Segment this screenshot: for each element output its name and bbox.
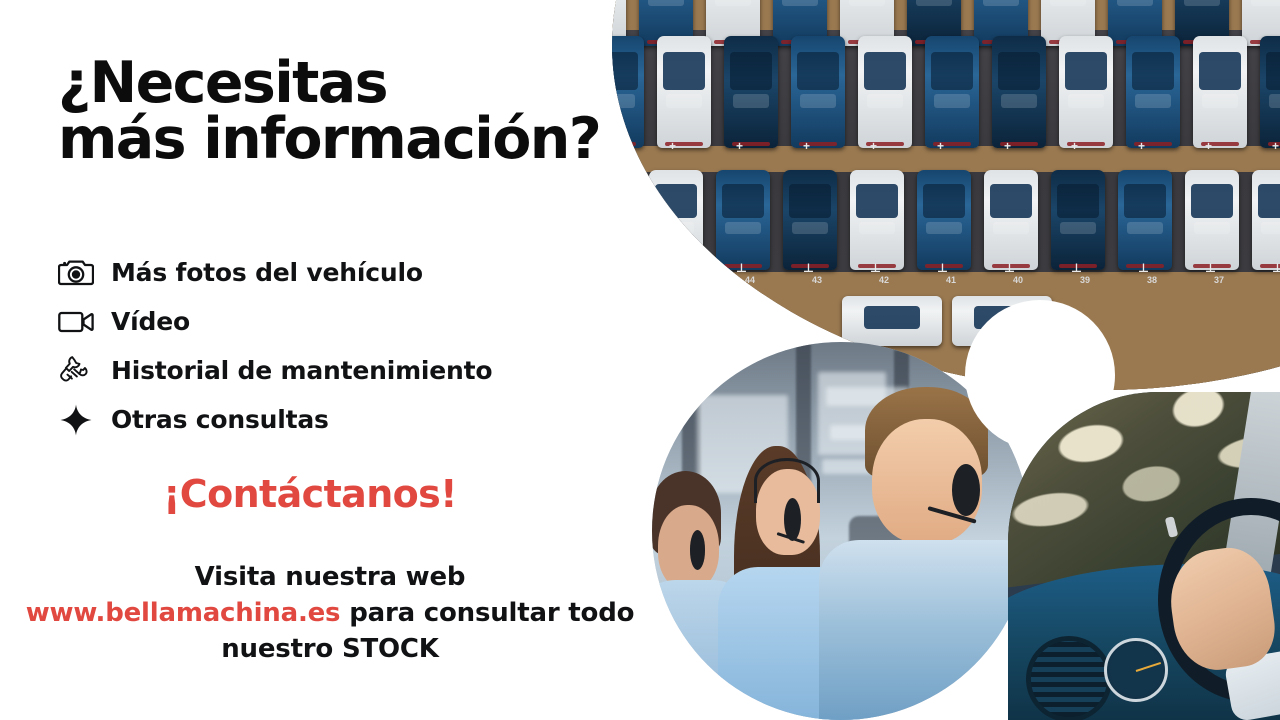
parked-car (984, 170, 1038, 270)
parked-car (1041, 0, 1095, 46)
parked-car (783, 170, 837, 270)
parked-car (842, 296, 942, 346)
video-camera-icon (55, 303, 97, 341)
parking-bay-number: 42 (879, 276, 889, 285)
parking-bay-number: 43 (812, 276, 822, 285)
parking-bay-marker: + (736, 140, 743, 152)
parked-car (917, 170, 971, 270)
list-item: Más fotos del vehículo (55, 248, 655, 297)
aerial-parking-lot-photo: +⊥46+⊥45+⊥44+⊥43+⊥42+⊥41+⊥40+⊥39+⊥38+⊥37… (612, 0, 1280, 390)
parked-car (716, 170, 770, 270)
parking-bay-number: 44 (745, 276, 755, 285)
parking-bay-marker: + (870, 140, 877, 152)
parking-bay-marker: ⊥ (1205, 262, 1216, 274)
parked-car (706, 0, 760, 46)
page-title: ¿Necesitas más información? (58, 55, 678, 168)
parked-car (1185, 170, 1239, 270)
list-item-label: Más fotos del vehículo (111, 258, 423, 287)
benefits-list: Más fotos del vehículo Vídeo (55, 248, 655, 444)
parked-car (1242, 0, 1280, 46)
list-item: Otras consultas (55, 395, 655, 444)
headline-line-2: más información? (58, 111, 678, 167)
parked-car (858, 36, 912, 148)
parking-bay-number: 37 (1214, 276, 1224, 285)
parked-car (952, 296, 1052, 346)
website-callout: Visita nuestra web www.bellamachina.es p… (0, 560, 660, 668)
parked-car (840, 0, 894, 46)
url-line-rest: para consultar todo (340, 598, 634, 628)
sparkle-star-icon (55, 401, 97, 439)
parked-car (992, 36, 1046, 148)
list-item-label: Vídeo (111, 307, 190, 336)
parking-bay-marker: ⊥ (1272, 262, 1280, 274)
parked-car (791, 36, 845, 148)
parking-bay-number: 41 (946, 276, 956, 285)
parked-car (1260, 36, 1280, 148)
parking-bay-number: 40 (1013, 276, 1023, 285)
parking-bay-number: 39 (1080, 276, 1090, 285)
parked-car (925, 36, 979, 148)
parking-bay-marker: + (1272, 140, 1279, 152)
advertisement-canvas: +⊥46+⊥45+⊥44+⊥43+⊥42+⊥41+⊥40+⊥39+⊥38+⊥37… (0, 0, 1280, 720)
list-item: Historial de mantenimiento (55, 346, 655, 395)
parked-car (1059, 36, 1113, 148)
parked-car (1118, 170, 1172, 270)
parked-car (850, 170, 904, 270)
parking-bay-marker: ⊥ (1138, 262, 1149, 274)
camera-icon (55, 254, 97, 292)
parked-car (1175, 0, 1229, 46)
parking-bay-marker: + (937, 140, 944, 152)
parked-car (1252, 170, 1280, 270)
list-item-label: Historial de mantenimiento (111, 356, 492, 385)
parking-bay-marker: ⊥ (1071, 262, 1082, 274)
parking-bay-marker: ⊥ (870, 262, 881, 274)
parking-bay-marker: + (1004, 140, 1011, 152)
parked-car (1051, 170, 1105, 270)
parking-bay-marker: + (1138, 140, 1145, 152)
stock-line: nuestro STOCK (0, 632, 660, 668)
parked-car (1193, 36, 1247, 148)
parked-car (724, 36, 778, 148)
parked-car (1126, 36, 1180, 148)
contact-text: ¡Contáctanos! (163, 472, 457, 516)
url-line: www.bellamachina.es para consultar todo (0, 596, 660, 632)
parking-bay-marker: + (1205, 140, 1212, 152)
parking-bay-marker: + (803, 140, 810, 152)
parked-car (907, 0, 961, 46)
parking-bay-marker: ⊥ (1004, 262, 1015, 274)
text-content-column: ¿Necesitas más información? Más fotos de… (0, 0, 680, 720)
parking-bay-marker: ⊥ (803, 262, 814, 274)
wrench-hand-icon (55, 352, 97, 390)
driving-pov-photo (1008, 392, 1280, 720)
parked-car (1108, 0, 1162, 46)
parked-car (773, 0, 827, 46)
parking-bay-number: 38 (1147, 276, 1157, 285)
website-link[interactable]: www.bellamachina.es (26, 598, 341, 628)
parking-bay-marker: + (1071, 140, 1078, 152)
white-separator-shape (965, 300, 1115, 450)
call-center-agents-photo (652, 342, 1030, 720)
list-item: Vídeo (55, 297, 655, 346)
parking-bay-marker: ⊥ (937, 262, 948, 274)
parked-car (974, 0, 1028, 46)
parking-bay-marker: ⊥ (736, 262, 747, 274)
contact-callout: ¡Contáctanos! (0, 472, 620, 516)
list-item-label: Otras consultas (111, 405, 329, 434)
visit-web-line: Visita nuestra web (0, 560, 660, 596)
